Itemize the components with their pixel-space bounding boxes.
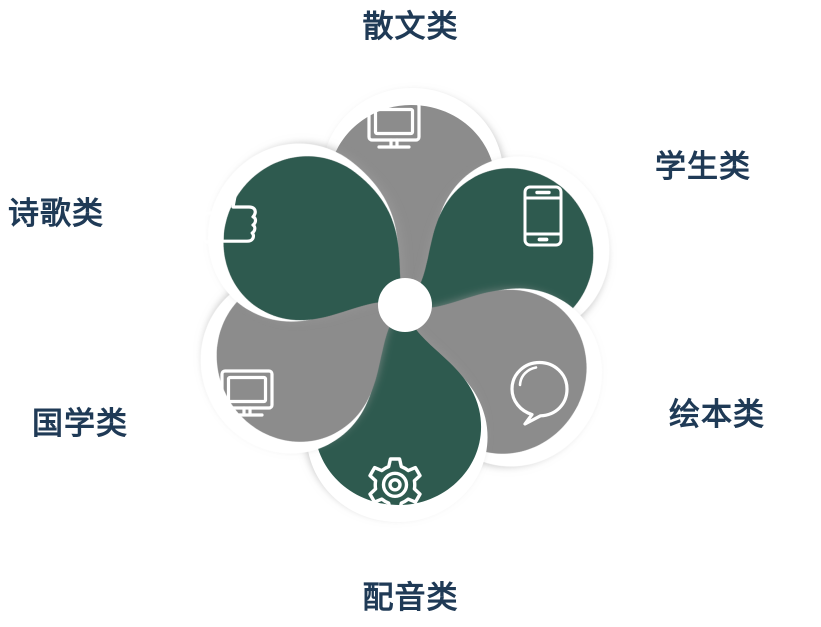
diagram-canvas: 散文类 学生类 绘本类 配音类 国学类 诗歌类 (0, 0, 821, 627)
center-hub (378, 278, 432, 332)
petal-label-bottom: 配音类 (363, 583, 459, 614)
petal-label-upper-left: 诗歌类 (8, 199, 104, 230)
petal-label-lower-left: 国学类 (32, 409, 128, 440)
pinwheel-diagram (0, 0, 821, 627)
petal-label-upper-right: 学生类 (655, 152, 751, 183)
petal-label-lower-right: 绘本类 (669, 400, 765, 431)
petal-label-top: 散文类 (363, 12, 459, 43)
